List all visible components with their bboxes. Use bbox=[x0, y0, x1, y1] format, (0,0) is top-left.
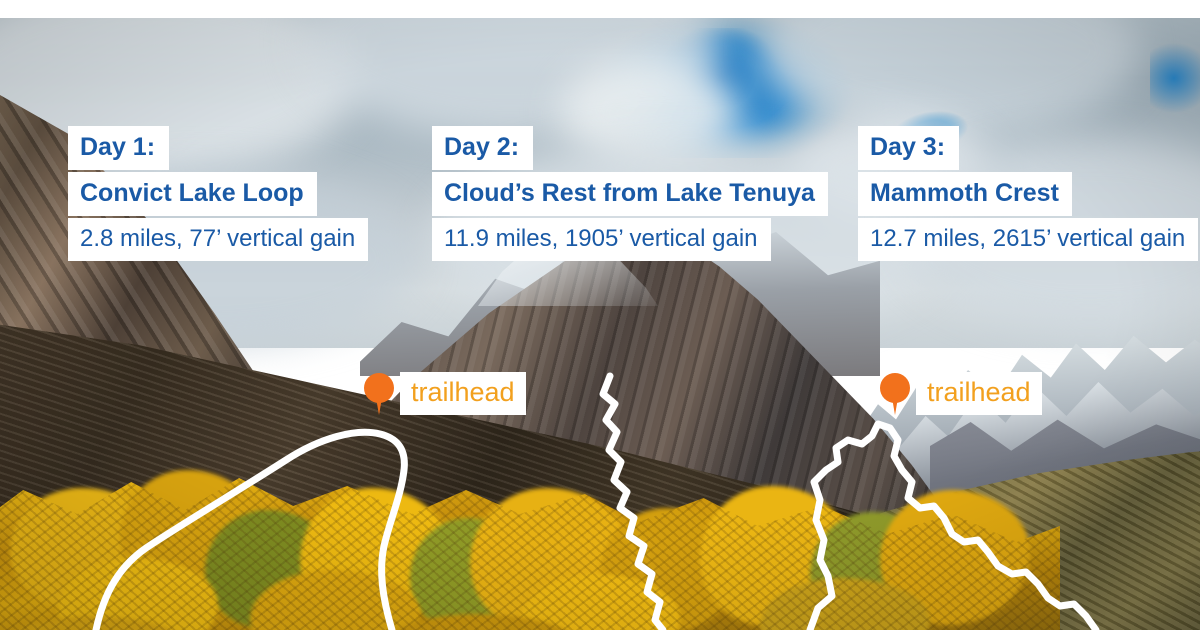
map-pin-tip bbox=[891, 392, 899, 415]
day-3-stats-row: 12.7 miles, 2615’ vertical gain bbox=[858, 218, 1198, 261]
day-1-day-row: Day 1: bbox=[68, 126, 368, 170]
day-2-label-group: Day 2: Cloud’s Rest from Lake Tenuya 11.… bbox=[432, 126, 828, 263]
day-3-label-group: Day 3: Mammoth Crest 12.7 miles, 2615’ v… bbox=[858, 126, 1198, 263]
day-3-day-label: Day 3: bbox=[858, 126, 959, 170]
trail-overlay bbox=[0, 0, 1200, 630]
day-2-day-row: Day 2: bbox=[432, 126, 828, 170]
day-2-stats-row: 11.9 miles, 1905’ vertical gain bbox=[432, 218, 828, 261]
day-2-name-row: Cloud’s Rest from Lake Tenuya bbox=[432, 172, 828, 216]
trailhead-label-left: trailhead bbox=[400, 372, 526, 415]
trail-map-poster: Day 1: Convict Lake Loop 2.8 miles, 77’ … bbox=[0, 0, 1200, 630]
day-1-day-label: Day 1: bbox=[68, 126, 169, 170]
map-pin-icon bbox=[364, 373, 394, 415]
day-2-route-name: Cloud’s Rest from Lake Tenuya bbox=[432, 172, 828, 216]
day-1-stats-row: 2.8 miles, 77’ vertical gain bbox=[68, 218, 368, 261]
trail-path-day-2 bbox=[603, 376, 663, 630]
day-3-name-row: Mammoth Crest bbox=[858, 172, 1198, 216]
trailhead-marker-right[interactable]: trailhead bbox=[880, 372, 1042, 415]
day-3-stats: 12.7 miles, 2615’ vertical gain bbox=[858, 218, 1198, 261]
map-pin-icon bbox=[880, 373, 910, 415]
trailhead-marker-left[interactable]: trailhead bbox=[364, 372, 526, 415]
day-2-day-label: Day 2: bbox=[432, 126, 533, 170]
day-1-label-group: Day 1: Convict Lake Loop 2.8 miles, 77’ … bbox=[68, 126, 368, 263]
day-1-route-name: Convict Lake Loop bbox=[68, 172, 317, 216]
trail-path-day-3 bbox=[810, 424, 1096, 630]
day-2-stats: 11.9 miles, 1905’ vertical gain bbox=[432, 218, 771, 261]
day-1-name-row: Convict Lake Loop bbox=[68, 172, 368, 216]
day-3-day-row: Day 3: bbox=[858, 126, 1198, 170]
map-pin-tip bbox=[375, 392, 383, 415]
trail-path-day-1 bbox=[96, 432, 404, 630]
day-3-route-name: Mammoth Crest bbox=[858, 172, 1072, 216]
day-1-stats: 2.8 miles, 77’ vertical gain bbox=[68, 218, 368, 261]
trailhead-label-right: trailhead bbox=[916, 372, 1042, 415]
